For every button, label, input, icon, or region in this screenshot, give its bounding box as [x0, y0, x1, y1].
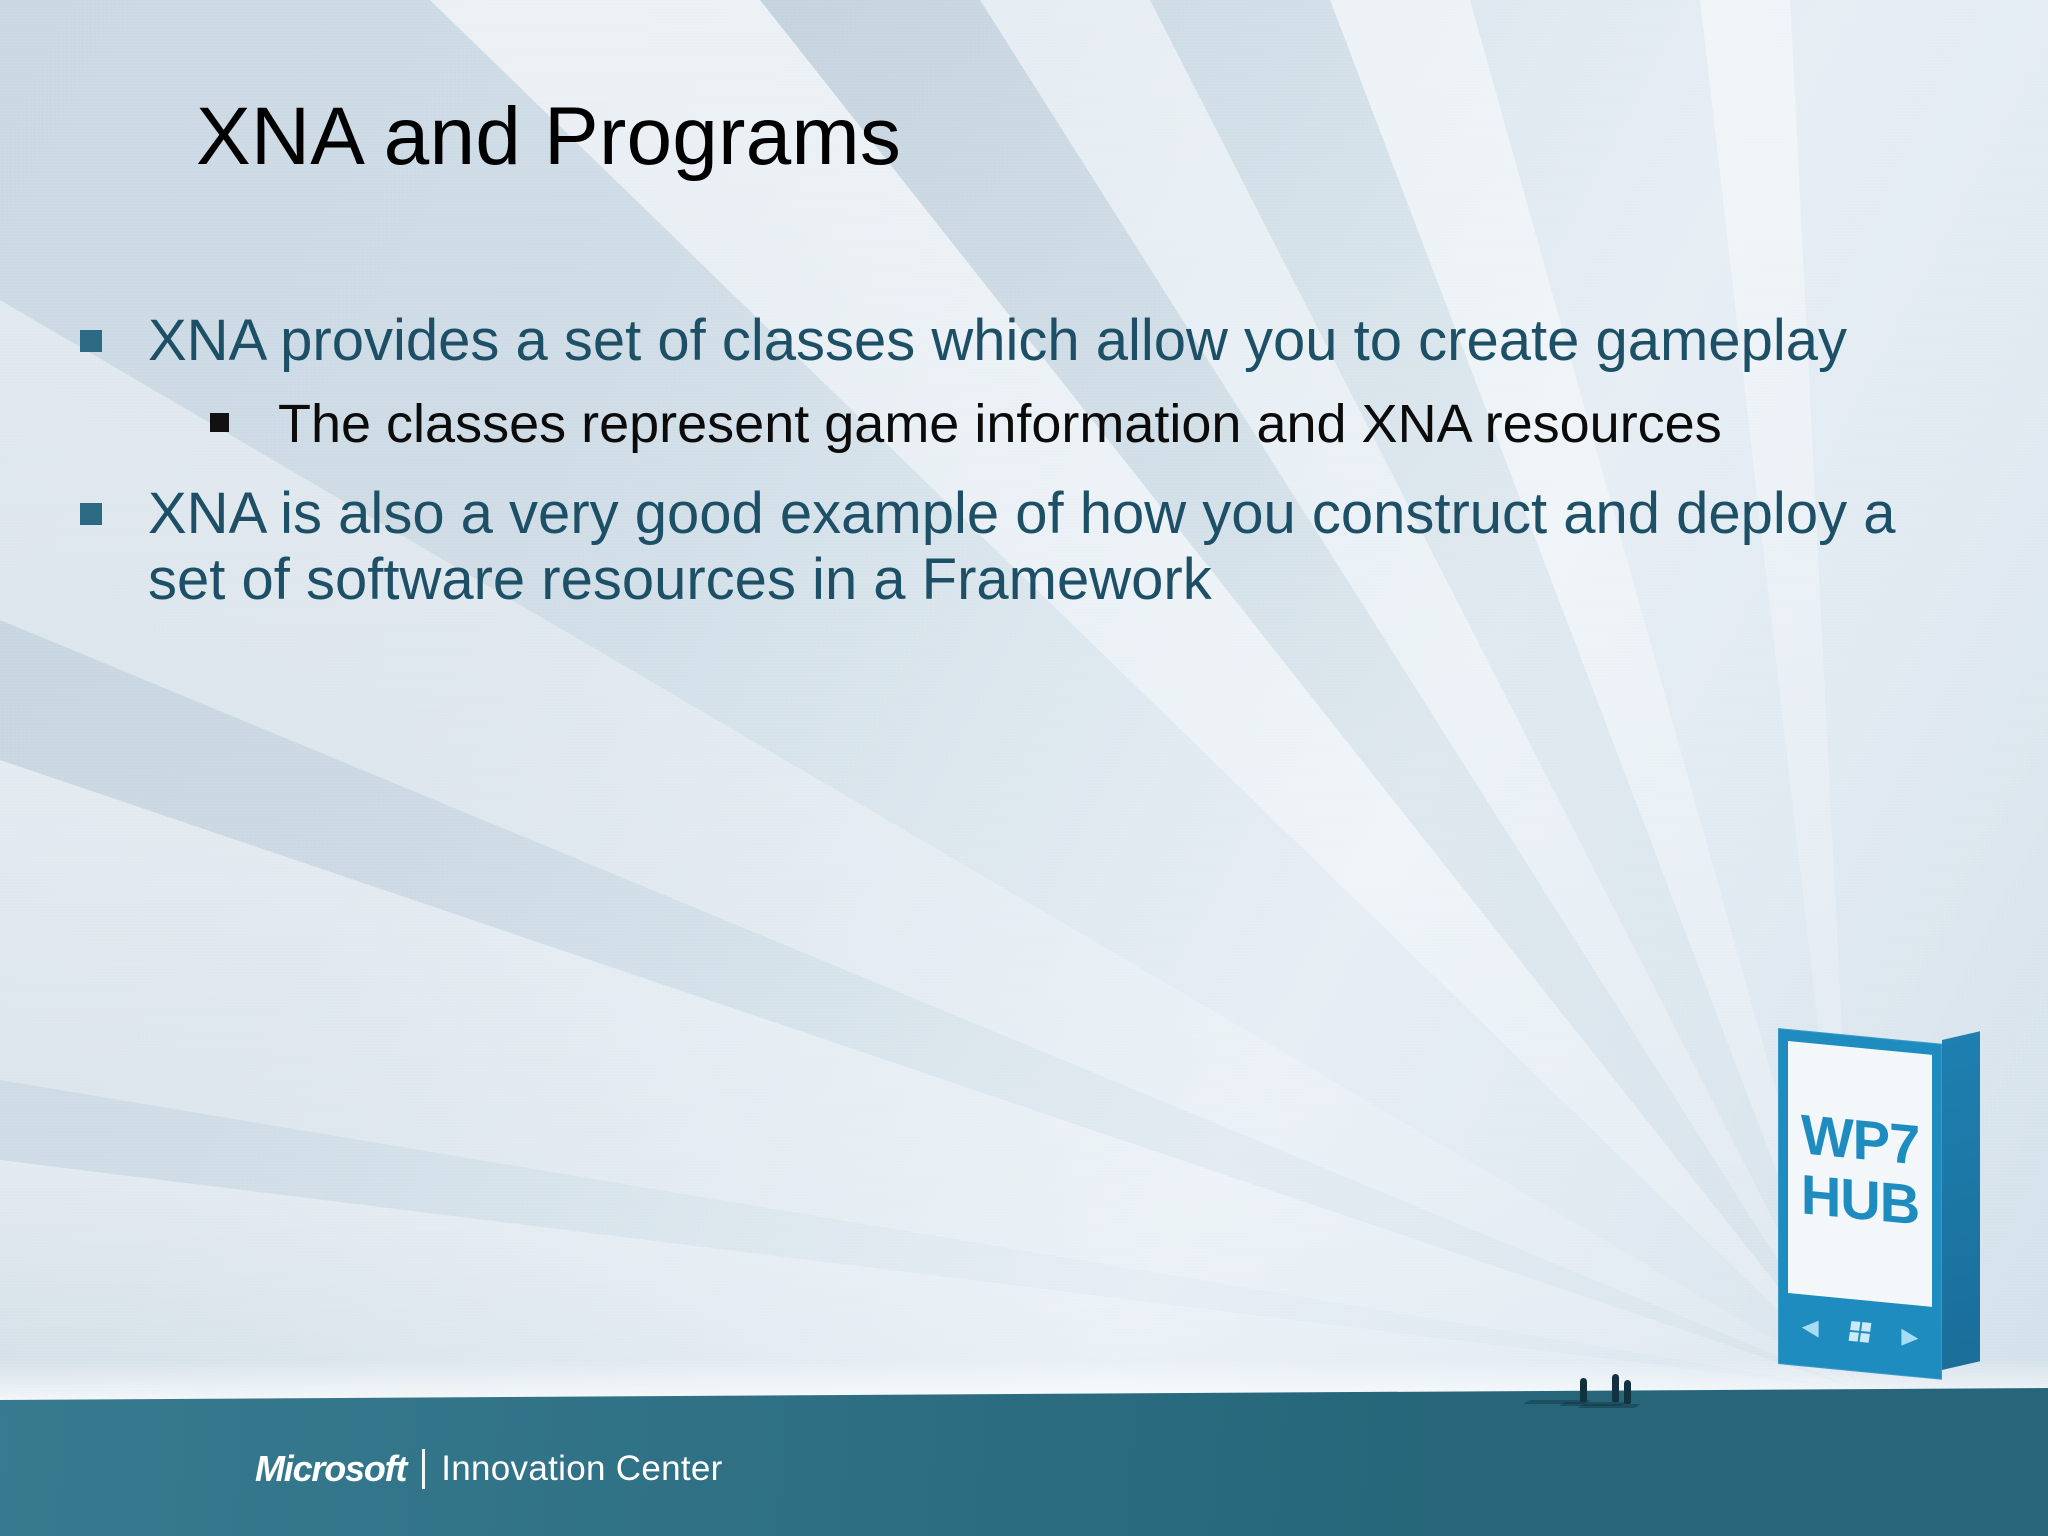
billboard-logo-text: WP7 HUB [1788, 1041, 1932, 1307]
background-rays [0, 0, 2048, 1536]
figure [1624, 1380, 1631, 1404]
bullet-level1: XNA provides a set of classes which allo… [72, 308, 1912, 375]
logo-divider [422, 1449, 425, 1489]
square-bullet-icon [210, 413, 229, 432]
billboard-front-panel: WP7 HUB ◀ ▶ [1778, 1028, 1942, 1380]
billboard-side-panel [1942, 1031, 1980, 1370]
forward-arrow-icon: ▶ [1901, 1325, 1918, 1349]
microsoft-wordmark: Microsoft [255, 1448, 406, 1490]
windows-logo-icon [1849, 1321, 1872, 1343]
back-arrow-icon: ◀ [1802, 1315, 1819, 1339]
footer-logo: Microsoft Innovation Center [255, 1448, 723, 1490]
billboard-line-2: HUB [1788, 1163, 1932, 1237]
square-bullet-icon [80, 503, 102, 525]
figure [1580, 1378, 1587, 1402]
bullet-text: XNA provides a set of classes which allo… [148, 308, 1847, 373]
figure-shadow [1577, 1404, 1641, 1408]
page-title: XNA and Programs [196, 96, 1696, 178]
presentation-slide: XNA and Programs XNA provides a set of c… [0, 0, 2048, 1536]
bullet-level1: XNA is also a very good example of how y… [72, 481, 1912, 614]
figure [1612, 1374, 1619, 1402]
billboard-screen: WP7 HUB [1788, 1041, 1932, 1307]
innovation-center-label: Innovation Center [441, 1449, 722, 1489]
bullet-text: The classes represent game information a… [278, 394, 1722, 454]
wp7-hub-billboard: WP7 HUB ◀ ▶ [1778, 1028, 1978, 1368]
phone-button-bar: ◀ ▶ [1786, 1303, 1934, 1361]
walking-figures [1540, 1372, 1720, 1432]
bullet-text: XNA is also a very good example of how y… [148, 481, 1895, 613]
slide-body: XNA provides a set of classes which allo… [72, 308, 1912, 622]
square-bullet-icon [80, 330, 102, 352]
bullet-level2: The classes represent game information a… [196, 393, 1912, 455]
